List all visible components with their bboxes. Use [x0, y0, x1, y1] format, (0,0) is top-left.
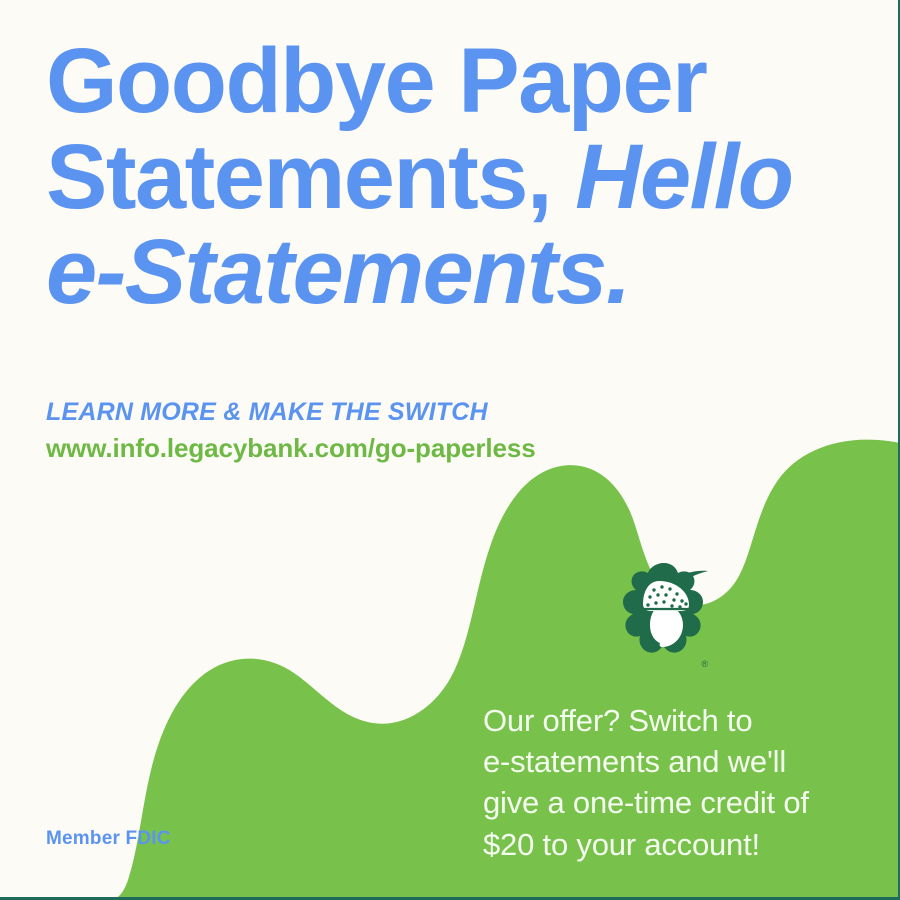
registered-trademark-icon: ®	[701, 660, 708, 669]
promo-url-link[interactable]: www.info.legacybank.com/go-paperless	[46, 431, 536, 466]
learn-more-cta: LEARN MORE & MAKE THE SWITCH	[46, 397, 536, 428]
headline-line-1: Goodbye Paper	[46, 34, 866, 130]
headline-line-2-plain: Statements,	[46, 126, 575, 228]
headline-line-2: Statements, Hello	[46, 130, 866, 226]
offer-line-1: Our offer? Switch to	[483, 700, 883, 741]
member-fdic-disclosure: Member FDIC	[46, 828, 171, 850]
acorn-oak-leaf-logo: ®	[612, 557, 716, 669]
paperless-promo-poster: Goodbye Paper Statements, Hello e-Statem…	[0, 0, 900, 900]
page-title: Goodbye Paper Statements, Hello e-Statem…	[46, 34, 866, 321]
offer-line-2: e-statements and we'll	[483, 741, 883, 782]
headline-line-2-italic: Hello	[575, 126, 792, 228]
offer-description: Our offer? Switch to e-statements and we…	[483, 700, 883, 865]
offer-line-3: give a one-time credit of	[483, 782, 883, 823]
subhead-block: LEARN MORE & MAKE THE SWITCH www.info.le…	[46, 397, 536, 466]
offer-line-4: $20 to your account!	[483, 824, 883, 865]
headline-line-3: e-Statements.	[46, 225, 866, 321]
